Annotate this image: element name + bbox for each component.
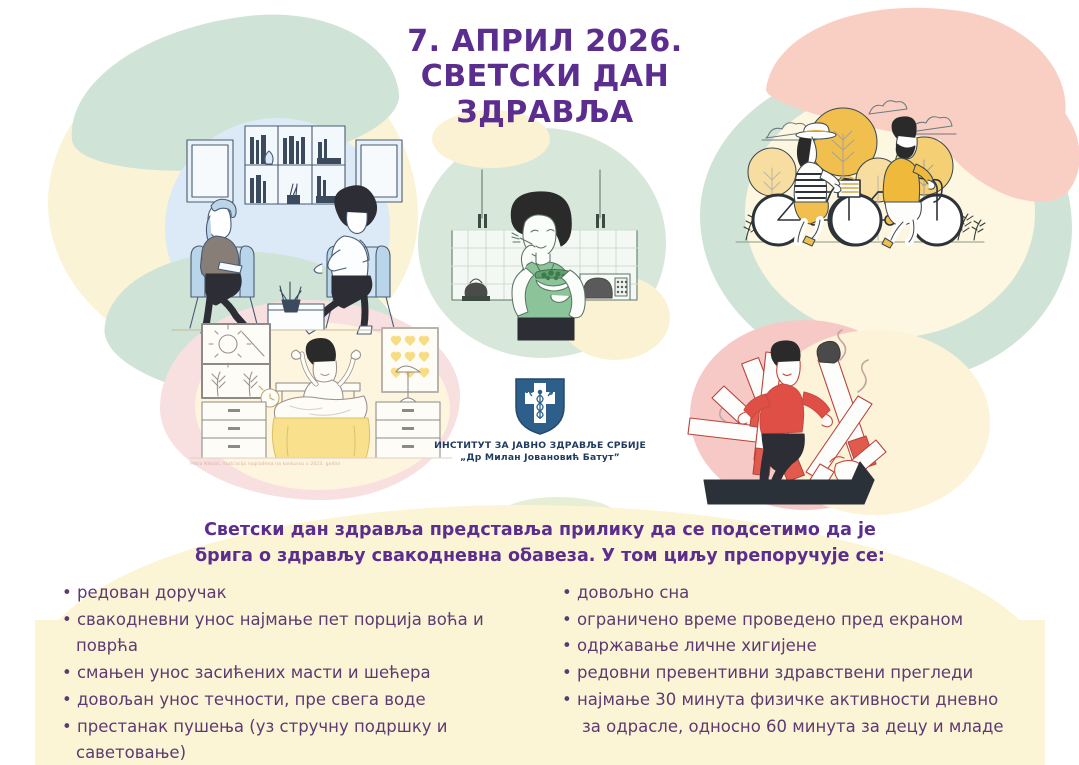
list-item: редован доручак <box>62 580 532 607</box>
recommendations-left-list: редован доручак свакодневни унос најмање… <box>62 580 532 765</box>
list-item: довољно сна <box>562 580 1032 607</box>
recommendations-left-column: редован доручак свакодневни унос најмање… <box>62 580 532 765</box>
healthy-eating-illustration <box>452 170 637 340</box>
list-item: престанак пушења (уз стручну подршку и с… <box>62 714 532 765</box>
list-item: одржавање личне хигијене <box>562 633 1032 660</box>
poster-canvas: 7. АПРИЛ 2026. СВЕТСКИ ДАН ЗДРАВЉА <box>0 0 1079 765</box>
svg-text:З: З <box>525 409 533 422</box>
recommendations: редован доручак свакодневни унос најмање… <box>62 580 1032 765</box>
lead-line-2: брига о здрављу свакодневна обавеза. У т… <box>90 544 990 570</box>
counselling-illustration <box>172 118 417 338</box>
illustration-credit: Petra Nikolić, ilustracija nagrađena na … <box>190 462 340 467</box>
recommendations-right-column: довољно сна ограничено време проведено п… <box>554 580 1032 765</box>
institute-name-line1: ИНСТИТУТ ЗА ЈАВНО ЗДРАВЉЕ СРБИЈЕ <box>430 440 650 451</box>
list-item: најмање 30 минута физичке активности дне… <box>562 687 1032 714</box>
title-event: СВЕТСКИ ДАН ЗДРАВЉА <box>330 59 760 130</box>
title-date: 7. АПРИЛ 2026. <box>330 24 760 59</box>
list-item: ограничено време проведено пред екраном <box>562 607 1032 634</box>
lead-paragraph: Светски дан здравља представља прилику д… <box>90 518 990 570</box>
quit-smoking-illustration <box>700 330 950 505</box>
svg-text:С: С <box>548 409 556 422</box>
svg-text:И: И <box>524 383 533 396</box>
list-item: свакодневни унос најмање пет порција воћ… <box>62 607 532 660</box>
list-item: редовни превентивни здравствени прегледи <box>562 660 1032 687</box>
good-sleep-illustration <box>190 318 452 463</box>
institute-logo: И J З С ИНСТИТУТ ЗА ЈАВНО ЗДРАВЉЕ СРБИЈЕ… <box>430 375 650 463</box>
institute-shield-icon: И J З С <box>512 375 568 437</box>
lead-line-1: Светски дан здравља представља прилику д… <box>90 518 990 544</box>
list-item: довољан унос течности, пре свега воде <box>62 687 532 714</box>
list-item: смањен унос засићених масти и шећера <box>62 660 532 687</box>
list-item-continuation: за одрасле, односно 60 минута за децу и … <box>562 714 1032 741</box>
institute-name-line2: „Др Милан Јовановић Батут” <box>430 452 650 463</box>
poster-title: 7. АПРИЛ 2026. СВЕТСКИ ДАН ЗДРАВЉА <box>330 24 760 130</box>
cycling-illustration <box>730 92 990 297</box>
recommendations-right-list: довољно сна ограничено време проведено п… <box>562 580 1032 740</box>
